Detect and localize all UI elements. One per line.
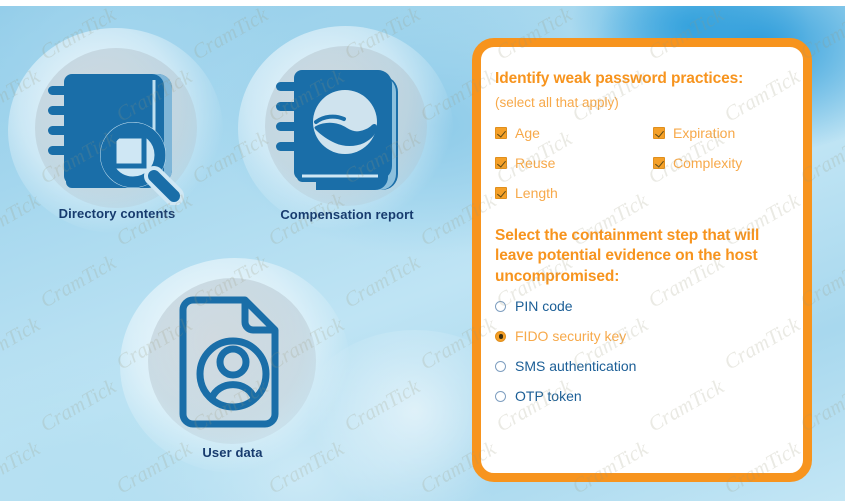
checkbox-checked-icon[interactable]: [653, 127, 665, 139]
radio-selected-icon[interactable]: [495, 331, 506, 342]
watermark-text: CramTick: [720, 0, 845, 3]
tile-user-data[interactable]: User data: [145, 288, 320, 460]
question1-options: Age Expiration Reuse Complexity Length: [495, 126, 783, 200]
tile-directory-contents[interactable]: Directory contents: [32, 60, 202, 221]
radio-option-sms-authentication[interactable]: SMS authentication: [495, 359, 783, 373]
checkbox-option-age[interactable]: Age: [495, 126, 653, 140]
checkbox-label: Length: [515, 186, 558, 200]
checkbox-option-reuse[interactable]: Reuse: [495, 156, 653, 170]
question2-title: Select the containment step that will le…: [495, 226, 783, 287]
radio-option-pin-code[interactable]: PIN code: [495, 299, 783, 313]
radio-unselected-icon[interactable]: [495, 301, 506, 312]
question1-title: Identify weak password practices:: [495, 69, 783, 89]
watermark-row: CramTickCramTickCramTickCramTickCramTick…: [0, 0, 845, 4]
radio-label: FIDO security key: [515, 329, 626, 343]
radio-label: PIN code: [515, 299, 573, 313]
checkbox-option-complexity[interactable]: Complexity: [653, 156, 783, 170]
watermark-text: CramTick: [0, 0, 104, 3]
checkbox-option-length[interactable]: Length: [495, 186, 653, 200]
tile-compensation-report[interactable]: Compensation report: [262, 58, 432, 222]
radio-label: OTP token: [515, 389, 582, 403]
question2-options: PIN code FIDO security key SMS authentic…: [495, 299, 783, 403]
checkbox-label: Complexity: [673, 156, 742, 170]
checkbox-label: Age: [515, 126, 540, 140]
checkbox-option-expiration[interactable]: Expiration: [653, 126, 783, 140]
checkbox-label: Expiration: [673, 126, 735, 140]
notebook-hand-icon: [262, 58, 432, 210]
watermark-text: CramTick: [112, 0, 256, 3]
radio-unselected-icon[interactable]: [495, 361, 506, 372]
notebook-search-icon: [32, 60, 202, 210]
question1-instruction: (select all that apply): [495, 95, 783, 112]
watermark-text: CramTick: [568, 0, 712, 3]
screenshot-root: Directory contents: [0, 0, 845, 501]
checkbox-checked-icon[interactable]: [495, 157, 507, 169]
radio-unselected-icon[interactable]: [495, 391, 506, 402]
question-panel: Identify weak password practices: (selec…: [472, 38, 812, 482]
checkbox-label: Reuse: [515, 156, 555, 170]
radio-option-fido-security-key[interactable]: FIDO security key: [495, 329, 783, 343]
watermark-text: CramTick: [416, 0, 560, 3]
watermark-text: CramTick: [264, 0, 408, 3]
checkbox-checked-icon[interactable]: [495, 127, 507, 139]
radio-label: SMS authentication: [515, 359, 636, 373]
radio-option-otp-token[interactable]: OTP token: [495, 389, 783, 403]
checkbox-checked-icon[interactable]: [653, 157, 665, 169]
document-user-icon: [145, 288, 320, 443]
tile-label-user-data: User data: [145, 445, 320, 460]
checkbox-checked-icon[interactable]: [495, 187, 507, 199]
